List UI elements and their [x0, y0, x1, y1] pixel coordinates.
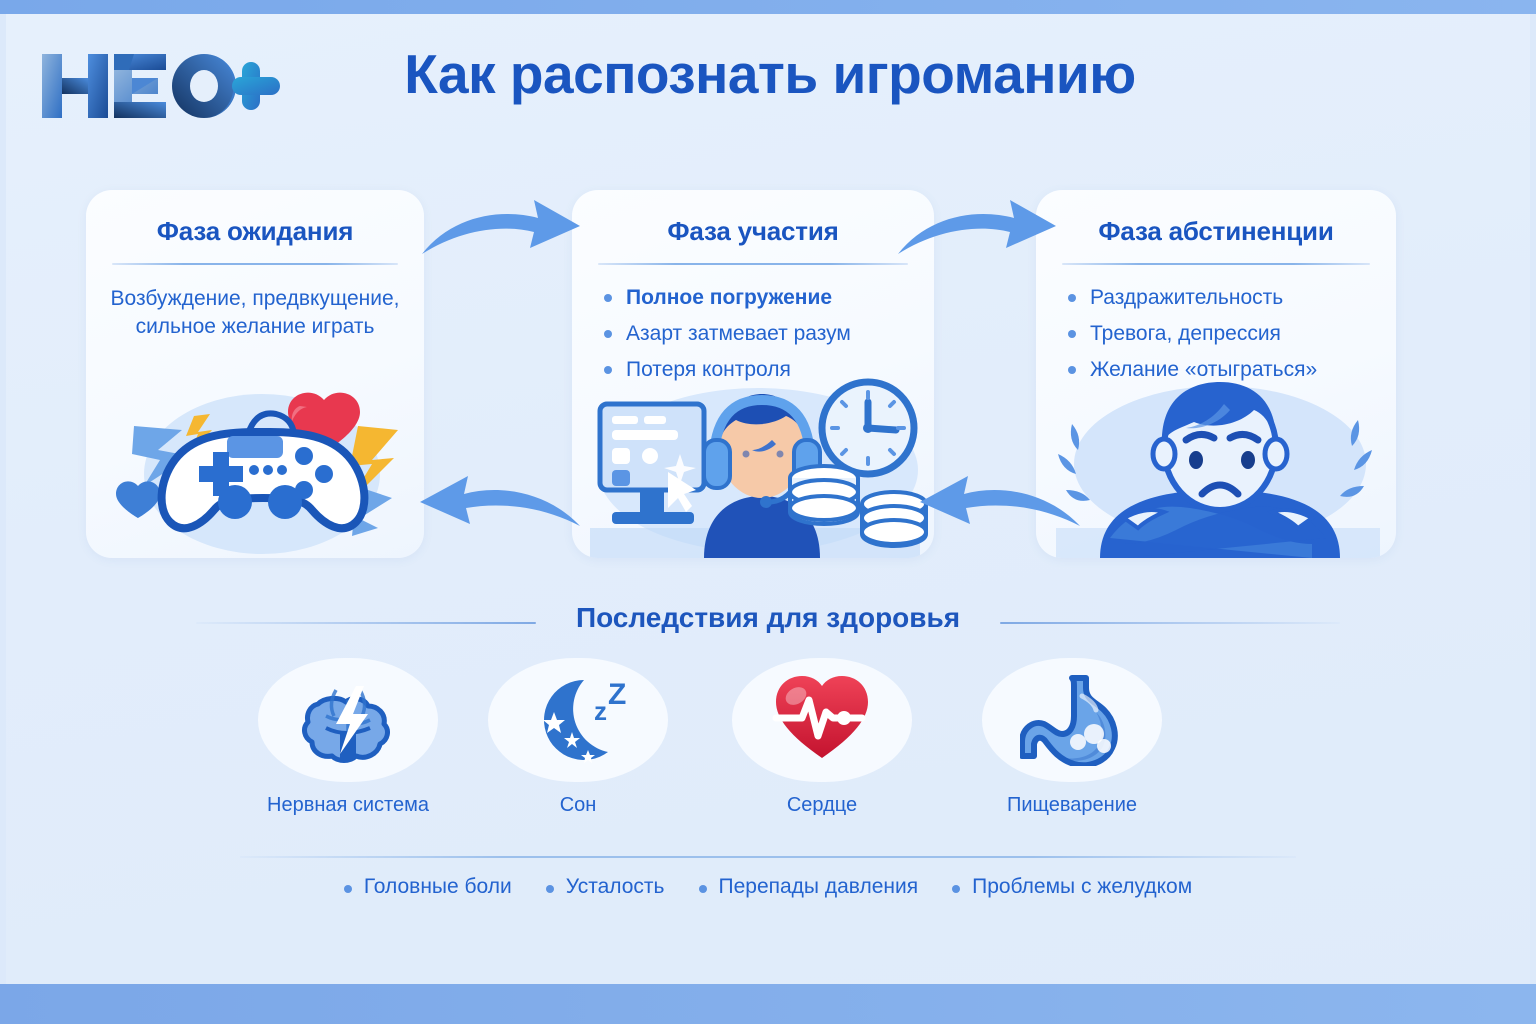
stomach-icon [1020, 670, 1124, 771]
phase-card-anticipation[interactable]: Фаза ожидания Возбуждение, предвкущение,… [86, 190, 424, 558]
phase-card-title: Фаза ожидания [86, 216, 424, 247]
icon-blob [732, 658, 912, 782]
health-icon-sleep[interactable]: z Z Сон [478, 658, 678, 817]
flow-arrow-left-1 [408, 474, 586, 541]
flow-arrow-right-2 [892, 196, 1060, 267]
phase-card-participation[interactable]: Фаза участия Полное погружение Азарт зат… [572, 190, 934, 558]
health-icon-nervous-system[interactable]: Нервная система [248, 658, 448, 817]
symptom-bullets: Головные боли Усталость Перепады давлени… [0, 862, 1536, 912]
list-item: Азарт затмевает разум [602, 319, 934, 349]
top-accent-bar [0, 0, 1536, 14]
list-item: Полное погружение [602, 283, 934, 313]
list-item: Тревога, депрессия [1066, 319, 1396, 349]
consequences-header: Последствия для здоровья [0, 600, 1536, 646]
icon-blob [982, 658, 1162, 782]
heart-pulse-icon [770, 670, 874, 771]
phase-card-list: Полное погружение Азарт затмевает разум … [602, 283, 934, 384]
icon-blob: z Z [488, 658, 668, 782]
page-title: Как распознать игроманию [330, 46, 1210, 104]
bottom-accent-bar [0, 984, 1536, 1024]
bullet-item: Проблемы с желудком [952, 875, 1192, 899]
infographic-page: Как распознать игроманию Фаза ожидания В… [0, 0, 1536, 1024]
brain-lightning-icon [296, 670, 400, 771]
svg-text:z: z [594, 696, 607, 726]
divider [598, 263, 908, 265]
title-underline [318, 122, 1220, 131]
gamepad-hearts-illustration [86, 378, 424, 558]
header-line-right [1000, 622, 1340, 624]
svg-text:Z: Z [608, 678, 626, 711]
health-icons-row: Нервная система z Z Сон [0, 658, 1536, 848]
icon-blob [258, 658, 438, 782]
flow-arrow-left-2 [908, 474, 1086, 541]
consequences-section: Последствия для здоровья [0, 600, 1536, 912]
divider [1062, 263, 1370, 265]
phase-card-list: Раздражительность Тревога, депрессия Жел… [1066, 283, 1396, 384]
brand-logo [36, 44, 286, 128]
divider [112, 263, 398, 265]
phase-card-withdrawal[interactable]: Фаза абстиненции Раздражительность Трево… [1036, 190, 1396, 558]
gamer-headset-clock-coins-illustration [572, 378, 934, 558]
bullet-item: Головные боли [344, 875, 512, 899]
phase-card-title: Фаза абстиненции [1036, 216, 1396, 247]
sad-person-illustration [1036, 378, 1396, 558]
icon-label: Пищеварение [972, 794, 1172, 817]
health-icon-digestion[interactable]: Пищеварение [972, 658, 1172, 817]
moon-zzz-icon: z Z [526, 670, 630, 771]
phase-card-description: Возбуждение, предвкущение, сильное желан… [102, 285, 408, 342]
phase-card-title: Фаза участия [572, 216, 934, 247]
bullet-item: Перепады давления [699, 875, 919, 899]
flow-arrow-right-1 [416, 196, 584, 267]
list-item: Раздражительность [1066, 283, 1396, 313]
phase-cards: Фаза ожидания Возбуждение, предвкущение,… [0, 190, 1536, 560]
icon-label: Нервная система [248, 794, 448, 817]
health-icon-heart[interactable]: Сердце [722, 658, 922, 817]
bullet-item: Усталость [546, 875, 665, 899]
icon-label: Сердце [722, 794, 922, 817]
consequences-title: Последствия для здоровья [0, 602, 1536, 634]
icon-label: Сон [478, 794, 678, 817]
